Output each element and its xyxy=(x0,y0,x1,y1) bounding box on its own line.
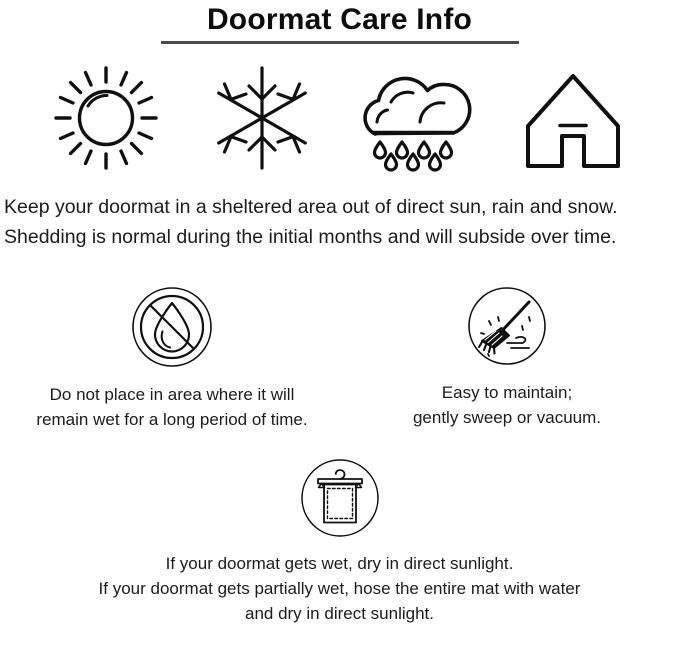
sweep-line-2: gently sweep or vacuum. xyxy=(413,405,601,430)
care-item-no-water: Do not place in area where it will remai… xyxy=(22,286,322,432)
weather-icon-row xyxy=(0,44,679,174)
intro-line-2: Shedding is normal during the initial mo… xyxy=(4,222,675,252)
no-water-icon xyxy=(131,286,213,368)
care-item-sweep: Easy to maintain; gently sweep or vacuum… xyxy=(357,286,657,432)
sweep-caption: Easy to maintain; gently sweep or vacuum… xyxy=(413,380,601,430)
page-title: Doormat Care Info xyxy=(0,2,679,38)
sun-icon xyxy=(36,62,176,174)
intro-paragraph: Keep your doormat in a sheltered area ou… xyxy=(0,192,679,252)
no-water-caption: Do not place in area where it will remai… xyxy=(36,382,307,432)
house-icon xyxy=(503,62,643,174)
dry-line-3: and dry in direct sunlight. xyxy=(99,601,581,626)
no-water-line-2: remain wet for a long period of time. xyxy=(36,407,307,432)
dry-line-1: If your doormat gets wet, dry in direct … xyxy=(99,551,581,576)
hang-to-dry-icon xyxy=(300,458,380,538)
no-water-line-1: Do not place in area where it will xyxy=(36,382,307,407)
rain-cloud-icon xyxy=(347,62,487,174)
care-item-dry: If your doormat gets wet, dry in direct … xyxy=(0,458,679,626)
page-header: Doormat Care Info xyxy=(0,0,679,44)
snowflake-icon xyxy=(192,62,332,174)
broom-icon xyxy=(467,286,547,366)
dry-line-2: If your doormat gets partially wet, hose… xyxy=(99,576,581,601)
intro-line-1: Keep your doormat in a sheltered area ou… xyxy=(4,192,675,222)
sweep-line-1: Easy to maintain; xyxy=(413,380,601,405)
care-row: Do not place in area where it will remai… xyxy=(0,286,679,432)
dry-caption: If your doormat gets wet, dry in direct … xyxy=(99,551,581,626)
